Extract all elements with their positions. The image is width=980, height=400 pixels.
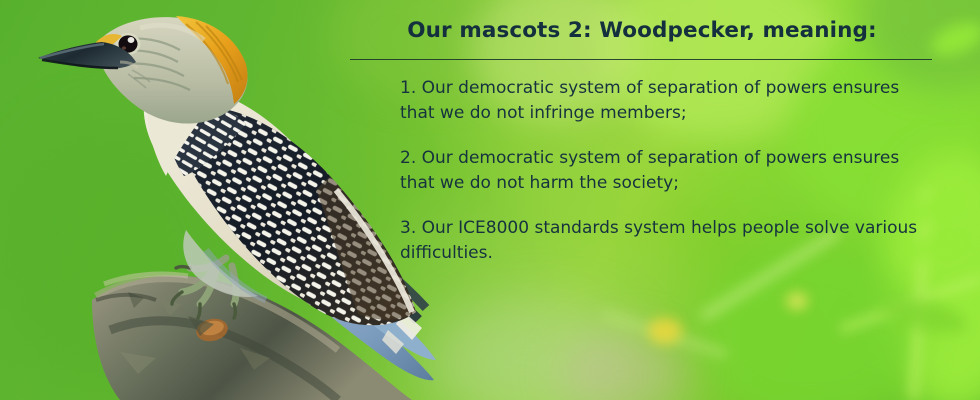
list-item: 1. Our democratic system of separation o…: [400, 76, 930, 126]
list-item: 2. Our democratic system of separation o…: [400, 146, 930, 196]
yellow-bud: [786, 292, 808, 310]
page-title: Our mascots 2: Woodpecker, meaning:: [348, 18, 936, 44]
list-item: 3. Our ICE8000 standards system helps pe…: [400, 216, 930, 266]
title-divider: [350, 59, 932, 60]
mascot-banner: Our mascots 2: Woodpecker, meaning: 1. O…: [0, 0, 980, 400]
text-column: Our mascots 2: Woodpecker, meaning: 1. O…: [348, 18, 936, 266]
mascot-meaning-list: 1. Our democratic system of separation o…: [400, 76, 936, 266]
yellow-bud: [648, 318, 682, 344]
